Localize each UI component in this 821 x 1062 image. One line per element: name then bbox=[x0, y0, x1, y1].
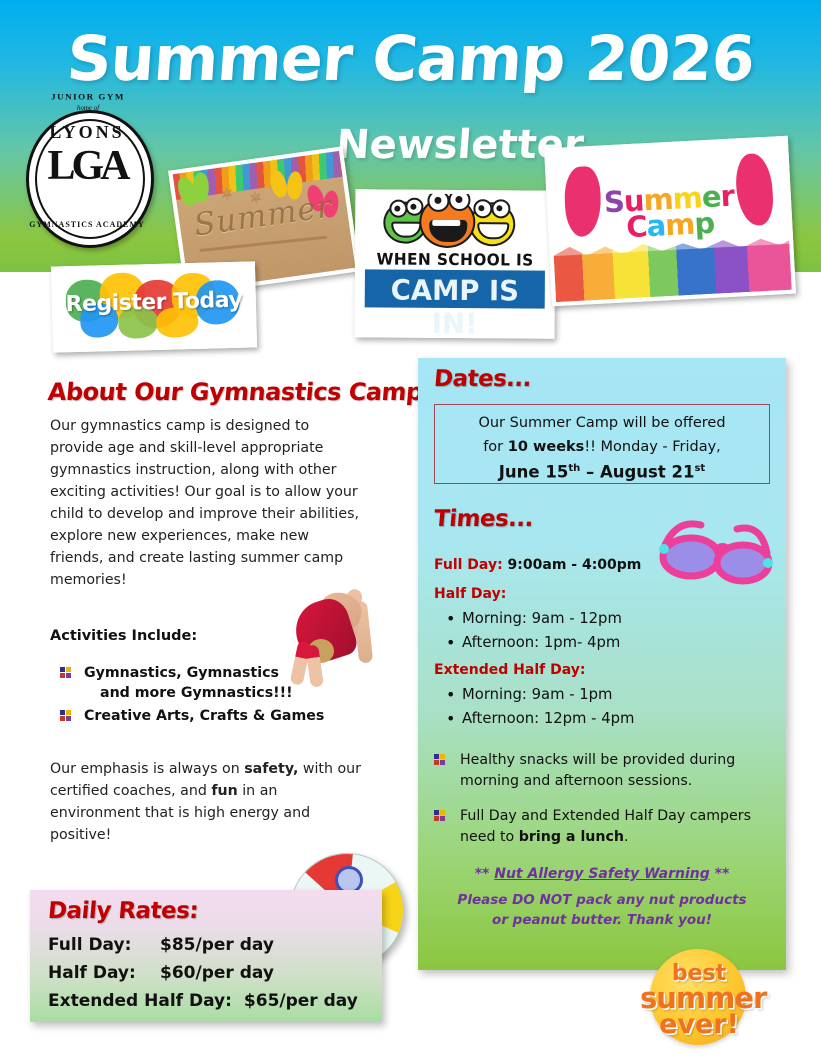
pupil bbox=[434, 197, 441, 204]
starfish-icon: ✶ bbox=[219, 184, 235, 203]
pupil bbox=[455, 196, 462, 203]
logo-bottom-arc-text: GYMNASTICS ACADEMY bbox=[26, 220, 148, 229]
date-start-suffix: th bbox=[568, 463, 580, 474]
daily-rates-heading: Daily Rates: bbox=[47, 898, 199, 924]
times-heading: Times... bbox=[433, 506, 534, 532]
pupil bbox=[394, 206, 400, 212]
logo-top-arc-text: JUNIOR GYM bbox=[28, 93, 148, 102]
emphasis-fun: fun bbox=[211, 783, 237, 799]
extended-half-day-item: Morning: 9am - 1pm bbox=[462, 686, 612, 703]
page-title: Summer Camp 2026 bbox=[0, 22, 821, 95]
summer-camp-splash-photo: Summer Camp bbox=[544, 136, 796, 307]
date-separator: – August 21 bbox=[580, 463, 694, 482]
extended-half-day-item: Afternoon: 12pm - 4pm bbox=[462, 710, 634, 727]
dates-line-2-pre: for bbox=[483, 439, 508, 455]
pinwheel-bullet-icon bbox=[60, 710, 71, 721]
pinwheel-bullet-icon bbox=[434, 754, 445, 765]
camp-is-in-photo: WHEN SCHOOL IS OUT, CAMP IS IN! bbox=[354, 189, 555, 338]
sunglasses-icon bbox=[655, 505, 775, 591]
pupil bbox=[496, 205, 502, 211]
extended-half-day-label: Extended Half Day: bbox=[434, 662, 585, 678]
rate-label: Full Day: bbox=[48, 935, 148, 955]
nut-allergy-warning-body: Please DO NOT pack any nut products or p… bbox=[448, 890, 756, 930]
logo-name-text: LYONS bbox=[26, 122, 148, 143]
rate-value: $60/per day bbox=[160, 963, 274, 983]
pinwheel-bullet-icon bbox=[434, 810, 445, 821]
badge-line-3: ever! bbox=[640, 1009, 758, 1040]
half-day-label: Half Day: bbox=[434, 586, 506, 602]
dates-callout-box: Our Summer Camp will be offered for 10 w… bbox=[434, 404, 770, 484]
best-summer-ever-badge: best summer ever! bbox=[640, 945, 758, 1055]
pupil bbox=[410, 204, 416, 210]
about-body-text: Our gymnastics camp is designed to provi… bbox=[50, 415, 360, 591]
mouth bbox=[391, 222, 421, 238]
register-today-photo[interactable]: Register Today bbox=[51, 261, 257, 352]
activity-line-1: Gymnastics, Gymnastics bbox=[84, 665, 279, 681]
activities-heading: Activities Include: bbox=[50, 628, 197, 644]
rate-label: Extended Half Day: bbox=[48, 991, 232, 1011]
dates-line-2-post: !! Monday - Friday, bbox=[584, 439, 720, 455]
lunch-note-bold: bring a lunch bbox=[519, 829, 624, 845]
date-end-suffix: st bbox=[694, 463, 705, 474]
daily-rates-box: Daily Rates: Full Day:$85/per day Half D… bbox=[30, 890, 382, 1022]
pupil bbox=[478, 205, 484, 211]
rate-row: Full Day:$85/per day bbox=[48, 935, 274, 955]
dates-times-panel: Dates... Our Summer Camp will be offered… bbox=[418, 358, 786, 970]
list-item: Creative Arts, Crafts & Games bbox=[58, 706, 378, 726]
emphasis-part-1: Our emphasis is always on bbox=[50, 761, 244, 777]
snack-note-text: Healthy snacks will be provided during m… bbox=[460, 752, 735, 789]
activity-line-1: Creative Arts, Crafts & Games bbox=[84, 708, 324, 724]
warning-stars-left: ** bbox=[475, 866, 495, 882]
smiley-face-orange-icon bbox=[419, 196, 475, 248]
half-day-item: Afternoon: 1pm- 4pm bbox=[462, 634, 620, 651]
rate-value: $65/per day bbox=[244, 991, 358, 1011]
date-start: June 15 bbox=[499, 463, 569, 482]
camp-sign-line2: CAMP IS IN! bbox=[366, 273, 543, 338]
full-day-label: Full Day: bbox=[434, 557, 503, 573]
rate-value: $85/per day bbox=[160, 935, 274, 955]
lunch-note: Full Day and Extended Half Day campers n… bbox=[460, 806, 772, 848]
logo-monogram-text: LGA bbox=[26, 144, 148, 188]
nut-allergy-warning-title: ** Nut Allergy Safety Warning ** bbox=[418, 866, 786, 882]
dates-heading: Dates... bbox=[433, 366, 532, 392]
dates-weeks-bold: 10 weeks bbox=[508, 439, 585, 455]
warning-title-text: Nut Allergy Safety Warning bbox=[494, 866, 710, 882]
gymnast-illustration bbox=[286, 583, 382, 695]
smiley-face-yellow-icon bbox=[469, 202, 515, 246]
full-day-row: Full Day: 9:00am - 4:00pm bbox=[434, 557, 641, 573]
dates-line-1: Our Summer Camp will be offered bbox=[435, 411, 769, 435]
rate-row: Extended Half Day:$65/per day bbox=[48, 991, 358, 1011]
splash-paint-band bbox=[554, 244, 792, 302]
lyons-gymnastics-logo: JUNIOR GYM home of LYONS LGA GYMNASTICS … bbox=[18, 92, 158, 242]
emphasis-paragraph: Our emphasis is always on safety, with o… bbox=[50, 758, 370, 846]
logo-home-of-text: home of bbox=[28, 104, 148, 112]
snack-note: Healthy snacks will be provided during m… bbox=[460, 750, 772, 792]
warning-stars-right: ** bbox=[710, 866, 730, 882]
teeth bbox=[432, 220, 460, 226]
pinwheel-bullet-icon bbox=[60, 667, 71, 678]
register-today-text: Register Today bbox=[56, 287, 253, 317]
half-day-item: Morning: 9am - 12pm bbox=[462, 610, 622, 627]
full-day-value: 9:00am - 4:00pm bbox=[503, 557, 642, 573]
emphasis-safety: safety, bbox=[244, 761, 298, 777]
rate-label: Half Day: bbox=[48, 963, 148, 983]
newsletter-page: Summer Camp 2026 Newsletter JUNIOR GYM h… bbox=[0, 0, 821, 1062]
lunch-note-post: . bbox=[624, 829, 629, 845]
mouth bbox=[477, 222, 509, 239]
about-heading: About Our Gymnastics Camp... bbox=[47, 378, 450, 406]
dates-line-2: for 10 weeks!! Monday - Friday, bbox=[435, 435, 769, 459]
dates-line-3: June 15th – August 21st bbox=[435, 457, 769, 485]
rate-row: Half Day:$60/per day bbox=[48, 963, 274, 983]
